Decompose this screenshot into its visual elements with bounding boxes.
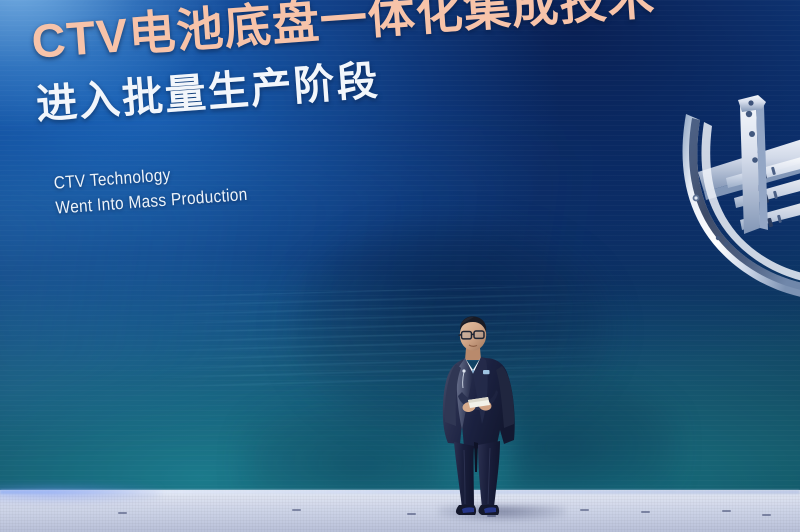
screen-soft-shadow [240,395,440,495]
stage-photo: CTV电池底盘一体化集成技术 进入批量生产阶段 CTV Technology W… [0,0,800,532]
presenter-figure [440,312,558,518]
floor-marker [118,512,127,514]
floor-glow [0,484,160,502]
floor-marker [407,513,416,515]
floor-marker [722,510,731,512]
floor-marker [580,509,589,511]
floor-marker [762,514,771,516]
floor-marker [641,511,650,513]
floor-marker [292,509,301,511]
